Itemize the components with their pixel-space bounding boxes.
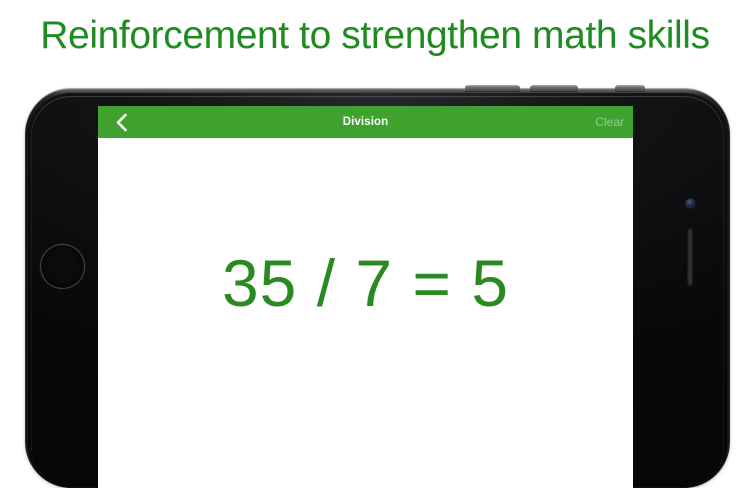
app-nav-bar: Division Clear <box>98 106 633 138</box>
equation-display: 35 / 7 = 5 <box>222 250 509 316</box>
clear-button[interactable]: Clear <box>595 106 624 138</box>
volume-up-button[interactable] <box>465 85 520 91</box>
phone-device-frame: Division Clear 35 / 7 = 5 <box>25 88 730 488</box>
volume-down-button[interactable] <box>530 85 578 91</box>
back-button[interactable] <box>106 106 136 138</box>
page-title: Reinforcement to strengthen math skills <box>0 0 750 72</box>
front-camera-icon <box>686 199 695 208</box>
home-button[interactable] <box>40 244 85 289</box>
mute-switch[interactable] <box>615 85 645 91</box>
equation-area: 35 / 7 = 5 <box>98 138 633 488</box>
nav-title: Division <box>98 116 633 128</box>
phone-screen: Division Clear 35 / 7 = 5 <box>98 106 633 488</box>
earpiece-speaker-icon <box>687 228 693 286</box>
chevron-left-icon <box>115 113 128 132</box>
